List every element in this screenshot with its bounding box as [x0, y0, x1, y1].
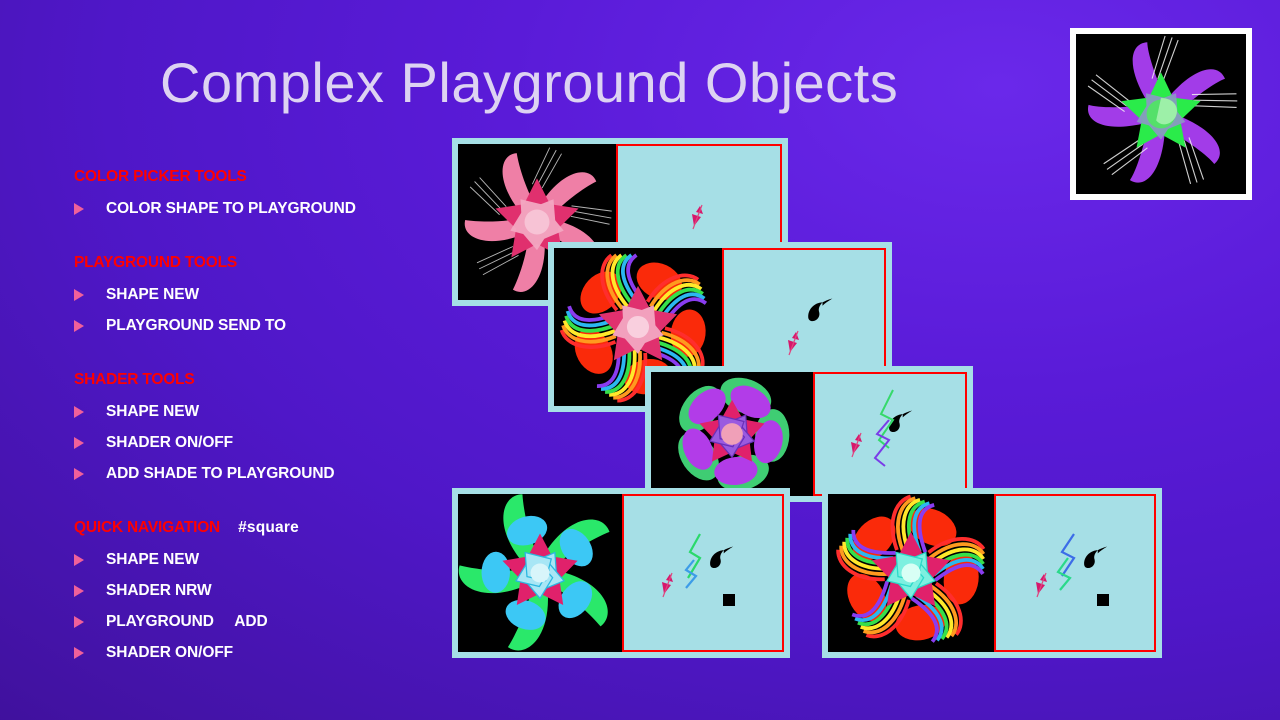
panel-5[interactable] — [822, 488, 1162, 658]
fractal-canvas[interactable] — [458, 494, 622, 652]
list-item-label: COLOR SHAPE TO PLAYGROUND — [106, 200, 356, 218]
list-item[interactable]: SHADER NRW — [74, 575, 474, 606]
pink-arrow-glyph — [692, 205, 703, 229]
bullet-triangle-icon — [74, 289, 84, 301]
thumbnail-canvas — [1076, 34, 1246, 194]
purple-magenta-green-spiral-fractal-icon — [651, 372, 813, 496]
slide-canvas: Complex Playground Objects COLOR PICKER … — [0, 0, 1280, 720]
blue-zigzag-segment — [686, 560, 696, 588]
page-title: Complex Playground Objects — [160, 52, 1080, 114]
thumbnail-preview[interactable] — [1070, 28, 1252, 200]
list-item[interactable]: PLAYGROUND SEND TO — [74, 310, 474, 341]
tool-list: COLOR PICKER TOOLS COLOR SHAPE TO PLAYGR… — [74, 168, 474, 676]
list-item-label: ADD SHADE TO PLAYGROUND — [106, 465, 335, 483]
group-heading: PLAYGROUND TOOLS — [74, 254, 474, 272]
list-item-label: SHAPE NEW — [106, 551, 199, 569]
tool-group-playground: PLAYGROUND TOOLS SHAPE NEW PLAYGROUND SE… — [74, 254, 474, 341]
list-item-label: SHAPE NEW — [106, 403, 199, 421]
list-item[interactable]: SHAPE NEW — [74, 544, 474, 575]
playground-board[interactable] — [994, 494, 1156, 652]
black-comma-glyph — [808, 299, 832, 322]
bullet-triangle-icon — [74, 468, 84, 480]
tool-group-quick-navigation: QUICK NAVIGATION#square SHAPE NEW SHADER… — [74, 519, 474, 668]
panel-4[interactable] — [452, 488, 790, 658]
tool-group-shader: SHADER TOOLS SHAPE NEW SHADER ON/OFF ADD… — [74, 371, 474, 489]
group-spacer — [74, 497, 474, 519]
board-objects — [624, 496, 784, 652]
black-square — [723, 594, 735, 606]
group-heading-tag: #square — [238, 519, 299, 536]
list-item-label: PLAYGROUND ADD — [106, 613, 268, 631]
pink-arrow-glyph — [1036, 573, 1047, 597]
board-objects — [815, 374, 967, 496]
bullet-triangle-icon — [74, 585, 84, 597]
group-heading-label: SHADER TOOLS — [74, 371, 194, 388]
list-item[interactable]: SHADER ON/OFF — [74, 637, 474, 668]
pink-arrow-glyph — [662, 573, 673, 597]
group-heading: QUICK NAVIGATION#square — [74, 519, 474, 537]
group-heading-label: COLOR PICKER TOOLS — [74, 168, 247, 185]
group-heading: SHADER TOOLS — [74, 371, 474, 389]
group-heading: COLOR PICKER TOOLS — [74, 168, 474, 186]
bullet-triangle-icon — [74, 647, 84, 659]
list-item-label: PLAYGROUND SEND TO — [106, 317, 286, 335]
list-item[interactable]: COLOR SHAPE TO PLAYGROUND — [74, 193, 474, 224]
list-item[interactable]: PLAYGROUND ADD — [74, 606, 474, 637]
group-heading-label: QUICK NAVIGATION — [74, 519, 220, 536]
list-item[interactable]: SHAPE NEW — [74, 279, 474, 310]
list-item[interactable]: SHAPE NEW — [74, 396, 474, 427]
list-item-label: SHADER ON/OFF — [106, 434, 233, 452]
tool-group-color-picker: COLOR PICKER TOOLS COLOR SHAPE TO PLAYGR… — [74, 168, 474, 224]
pink-arrow-glyph — [851, 433, 862, 457]
playground-board[interactable] — [622, 494, 784, 652]
rainbow-red-cyan-spiral-fractal-icon — [828, 494, 994, 652]
black-square — [1097, 594, 1109, 606]
black-comma-glyph — [710, 547, 733, 569]
group-spacer — [74, 232, 474, 254]
green-zigzag-segment — [1058, 558, 1070, 590]
fractal-canvas[interactable] — [651, 372, 813, 496]
bullet-triangle-icon — [74, 554, 84, 566]
fractal-canvas[interactable] — [828, 494, 994, 652]
board-objects — [996, 496, 1156, 652]
list-item[interactable]: ADD SHADE TO PLAYGROUND — [74, 458, 474, 489]
list-item-label: SHADER ON/OFF — [106, 644, 233, 662]
bullet-triangle-icon — [74, 616, 84, 628]
purple-green-spiral-fractal-icon — [1076, 34, 1246, 194]
black-comma-glyph — [1084, 547, 1107, 569]
list-item[interactable]: SHADER ON/OFF — [74, 427, 474, 458]
panel-3[interactable] — [645, 366, 973, 502]
list-item-label: SHADER NRW — [106, 582, 212, 600]
list-item-label: SHAPE NEW — [106, 286, 199, 304]
pink-arrow-glyph — [788, 331, 799, 355]
bullet-triangle-icon — [74, 320, 84, 332]
bullet-triangle-icon — [74, 406, 84, 418]
group-heading-label: PLAYGROUND TOOLS — [74, 254, 237, 271]
blue-zigzag-segment — [1062, 534, 1074, 576]
playground-board[interactable] — [813, 372, 967, 496]
group-spacer — [74, 349, 474, 371]
bullet-triangle-icon — [74, 203, 84, 215]
green-cyan-crimson-spiral-fractal-icon — [458, 494, 622, 652]
bullet-triangle-icon — [74, 437, 84, 449]
